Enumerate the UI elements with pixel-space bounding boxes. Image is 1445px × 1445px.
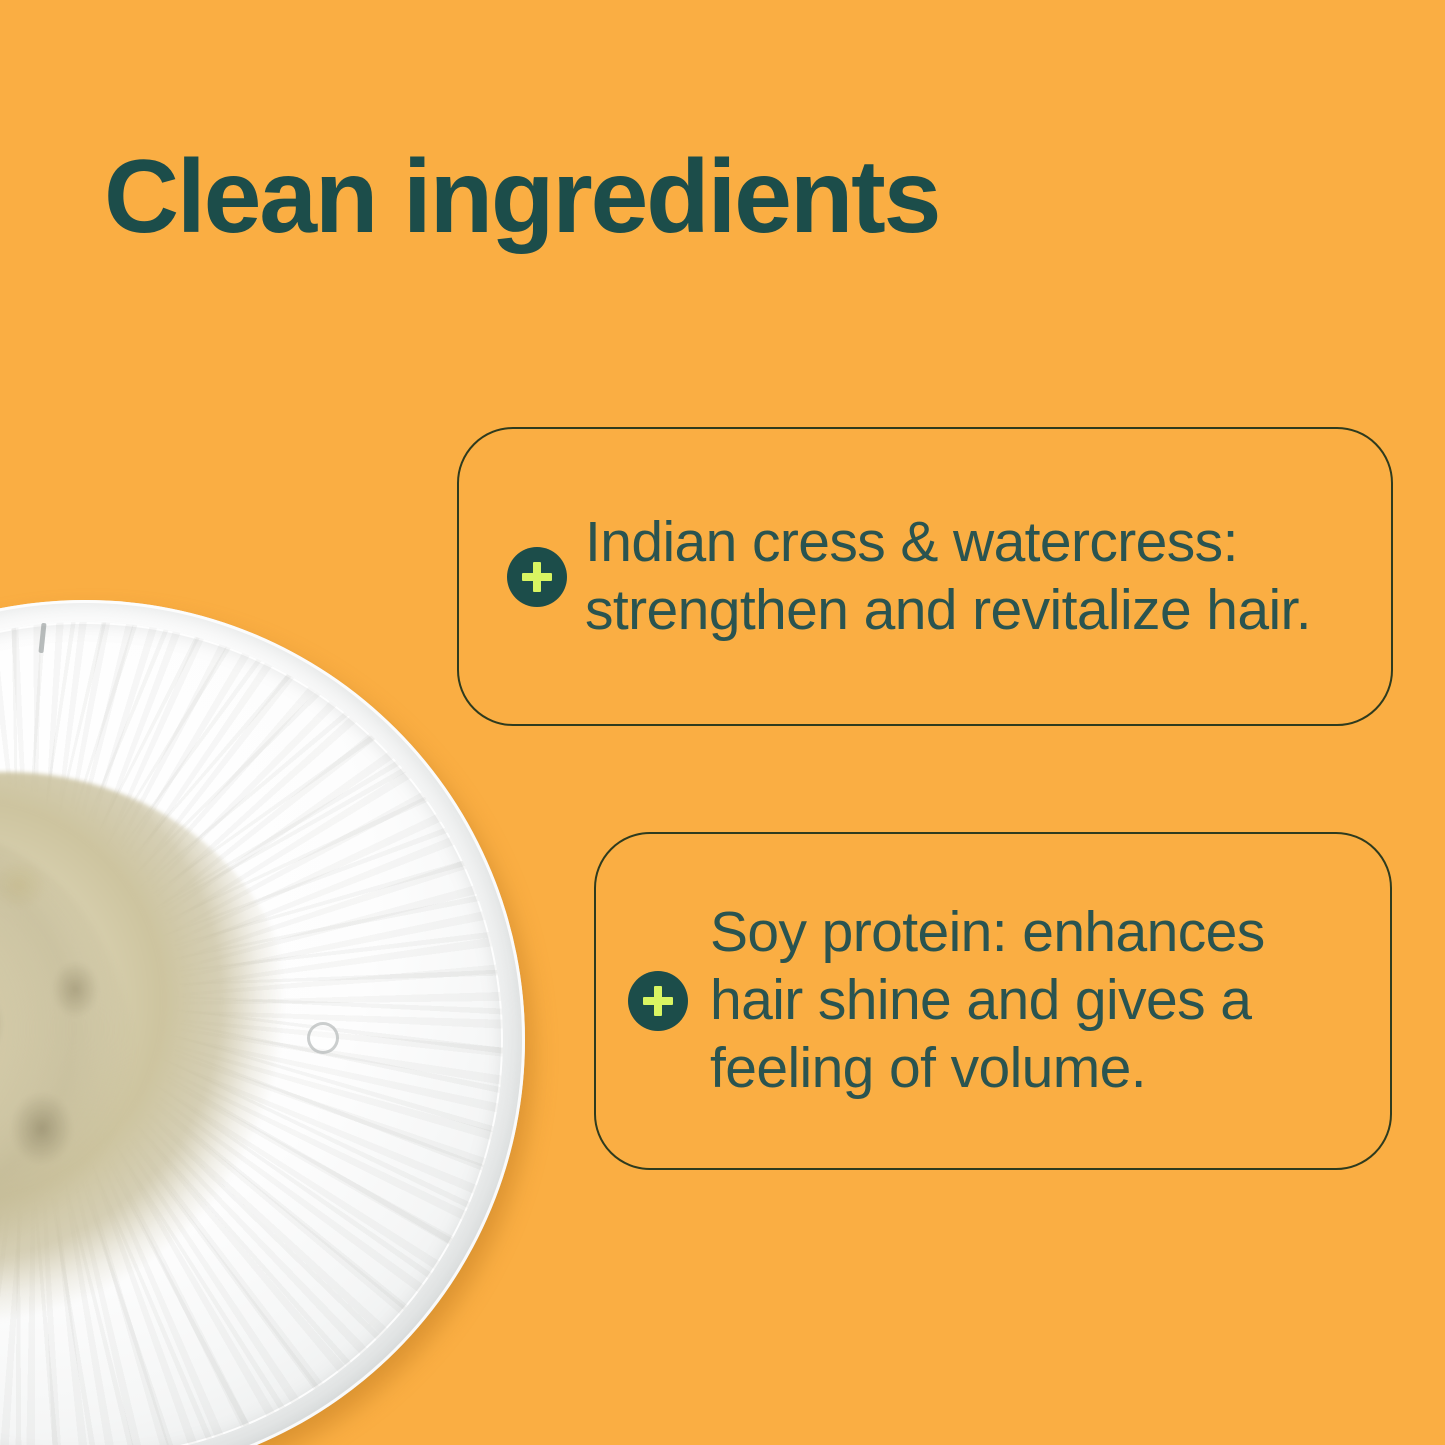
powder-heap	[0, 772, 297, 1372]
powder-heap-core	[0, 832, 137, 1302]
powder-clump-texture	[0, 792, 277, 1372]
petri-dish-shadow	[0, 614, 533, 1445]
benefit-card: Indian cress & watercress: strengthen an…	[457, 427, 1393, 726]
petri-dish-image	[0, 600, 525, 1445]
benefit-text: Indian cress & watercress: strengthen an…	[585, 509, 1357, 645]
petri-dish-glass-rim	[0, 600, 525, 1445]
page-title: Clean ingredients	[104, 144, 939, 250]
plus-icon	[507, 547, 567, 607]
powder-dust-streaks-secondary	[0, 622, 503, 1445]
product-benefits-panel: Clean ingredients Indian cress & watercr…	[0, 0, 1445, 1445]
plus-icon-vertical-bar	[654, 986, 662, 1016]
petri-dish-inner-well	[0, 622, 503, 1445]
glass-glare-highlight	[0, 600, 525, 1445]
glass-bubble-mark	[307, 1022, 339, 1054]
glass-rim-notch	[38, 623, 46, 653]
benefit-card: Soy protein: enhances hair shine and giv…	[594, 832, 1392, 1170]
benefit-text: Soy protein: enhances hair shine and giv…	[710, 899, 1360, 1102]
plus-icon-vertical-bar	[533, 562, 541, 592]
powder-dust-streaks	[0, 622, 503, 1445]
plus-icon	[628, 971, 688, 1031]
